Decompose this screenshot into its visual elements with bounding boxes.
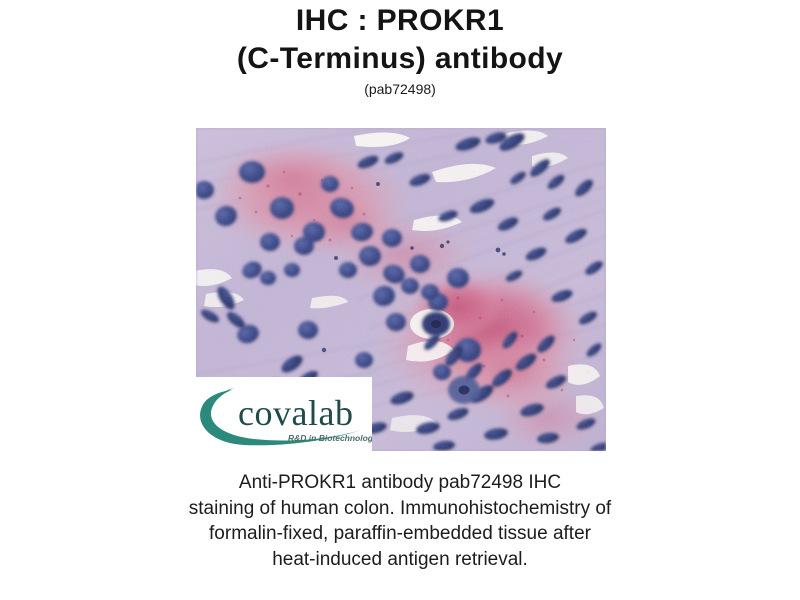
caption-line-4: heat-induced antigen retrieval. [100,547,700,573]
caption-line-2: staining of human colon. Immunohistochem… [100,496,700,522]
caption-line-1: Anti-PROKR1 antibody pab72498 IHC [100,470,700,496]
page-title-line-1: IHC : PROKR1 [0,2,800,40]
page-title-line-2: (C-Terminus) antibody [0,40,800,78]
logo-tagline: R&D in Biotechnology [288,433,372,443]
logo-wordmark: covalab [238,393,353,433]
covalab-logo-mark: covalab R&D in Biotechnology [196,377,372,451]
figure-caption: Anti-PROKR1 antibody pab72498 IHC staini… [100,470,700,572]
caption-line-3: formalin-fixed, paraffin-embedded tissue… [100,521,700,547]
covalab-logo: covalab R&D in Biotechnology [196,377,372,451]
micrograph-figure: covalab R&D in Biotechnology [196,128,606,451]
catalog-number: (pab72498) [0,80,800,98]
figure-header: IHC : PROKR1 (C-Terminus) antibody (pab7… [0,0,800,98]
